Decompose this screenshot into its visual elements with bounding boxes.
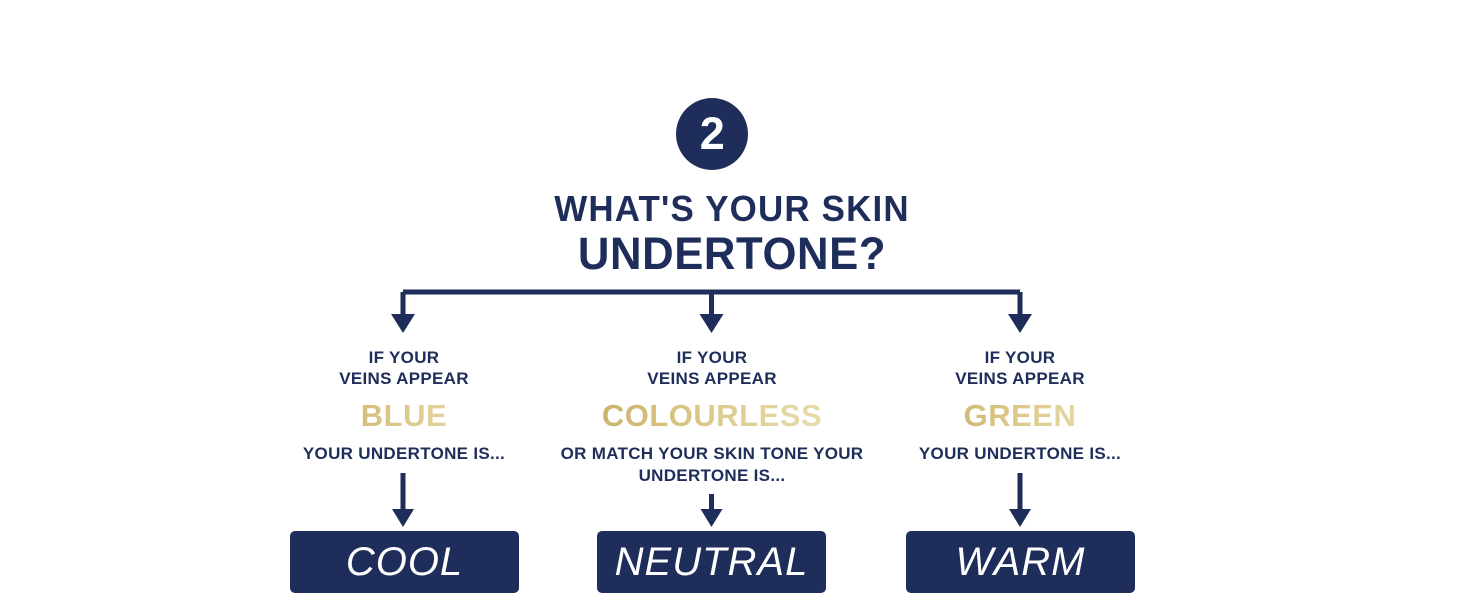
branch-keyword-colourless: COLOURLESS — [552, 398, 872, 434]
branch-condition-3: IF YOUR VEINS APPEAR — [905, 347, 1135, 389]
branch-condition-2-line-1: IF YOUR — [552, 347, 872, 368]
branch-colourless: IF YOUR VEINS APPEAR COLOURLESS OR MATCH… — [552, 347, 872, 487]
title-line-1: WHAT'S YOUR SKIN — [22, 188, 1442, 230]
result-label-cool: COOL — [346, 542, 463, 582]
branch-blue: IF YOUR VEINS APPEAR BLUE YOUR UNDERTONE… — [289, 347, 519, 465]
flow-connectors — [0, 0, 1464, 600]
result-box-neutral: NEUTRAL — [597, 531, 826, 593]
branch-green: IF YOUR VEINS APPEAR GREEN YOUR UNDERTON… — [905, 347, 1135, 465]
result-box-cool: COOL — [290, 531, 519, 593]
infographic-canvas: 2 WHAT'S YOUR SKIN UNDERTONE? IF YOUR VE… — [0, 0, 1464, 600]
result-label-warm: WARM — [956, 542, 1086, 582]
branch-condition-2-line-2: VEINS APPEAR — [552, 368, 872, 389]
branch-condition-3-line-2: VEINS APPEAR — [905, 368, 1135, 389]
branch-condition-1-line-1: IF YOUR — [289, 347, 519, 368]
step-number-badge: 2 — [676, 98, 748, 170]
branch-keyword-blue: BLUE — [289, 398, 519, 434]
branch-conclusion-1: YOUR UNDERTONE IS... — [289, 443, 519, 465]
branch-keyword-green: GREEN — [905, 398, 1135, 434]
branch-conclusion-2: OR MATCH YOUR SKIN TONE YOUR UNDERTONE I… — [552, 443, 872, 487]
result-arrowhead-3 — [1009, 509, 1031, 527]
branch-condition-1-line-2: VEINS APPEAR — [289, 368, 519, 389]
branch-condition-1: IF YOUR VEINS APPEAR — [289, 347, 519, 389]
result-label-neutral: NEUTRAL — [615, 542, 809, 582]
result-box-warm: WARM — [906, 531, 1135, 593]
branch-conclusion-3: YOUR UNDERTONE IS... — [905, 443, 1135, 465]
title-line-2: UNDERTONE? — [22, 230, 1442, 278]
result-arrowhead-1 — [392, 509, 414, 527]
result-arrowhead-2 — [701, 509, 723, 527]
branch-condition-3-line-1: IF YOUR — [905, 347, 1135, 368]
arrowhead-branch-1 — [391, 314, 415, 333]
arrowhead-branch-2 — [700, 314, 724, 333]
page-title: WHAT'S YOUR SKIN UNDERTONE? — [0, 188, 1464, 278]
step-number-text: 2 — [700, 111, 725, 156]
arrowhead-branch-3 — [1008, 314, 1032, 333]
branch-condition-2: IF YOUR VEINS APPEAR — [552, 347, 872, 389]
